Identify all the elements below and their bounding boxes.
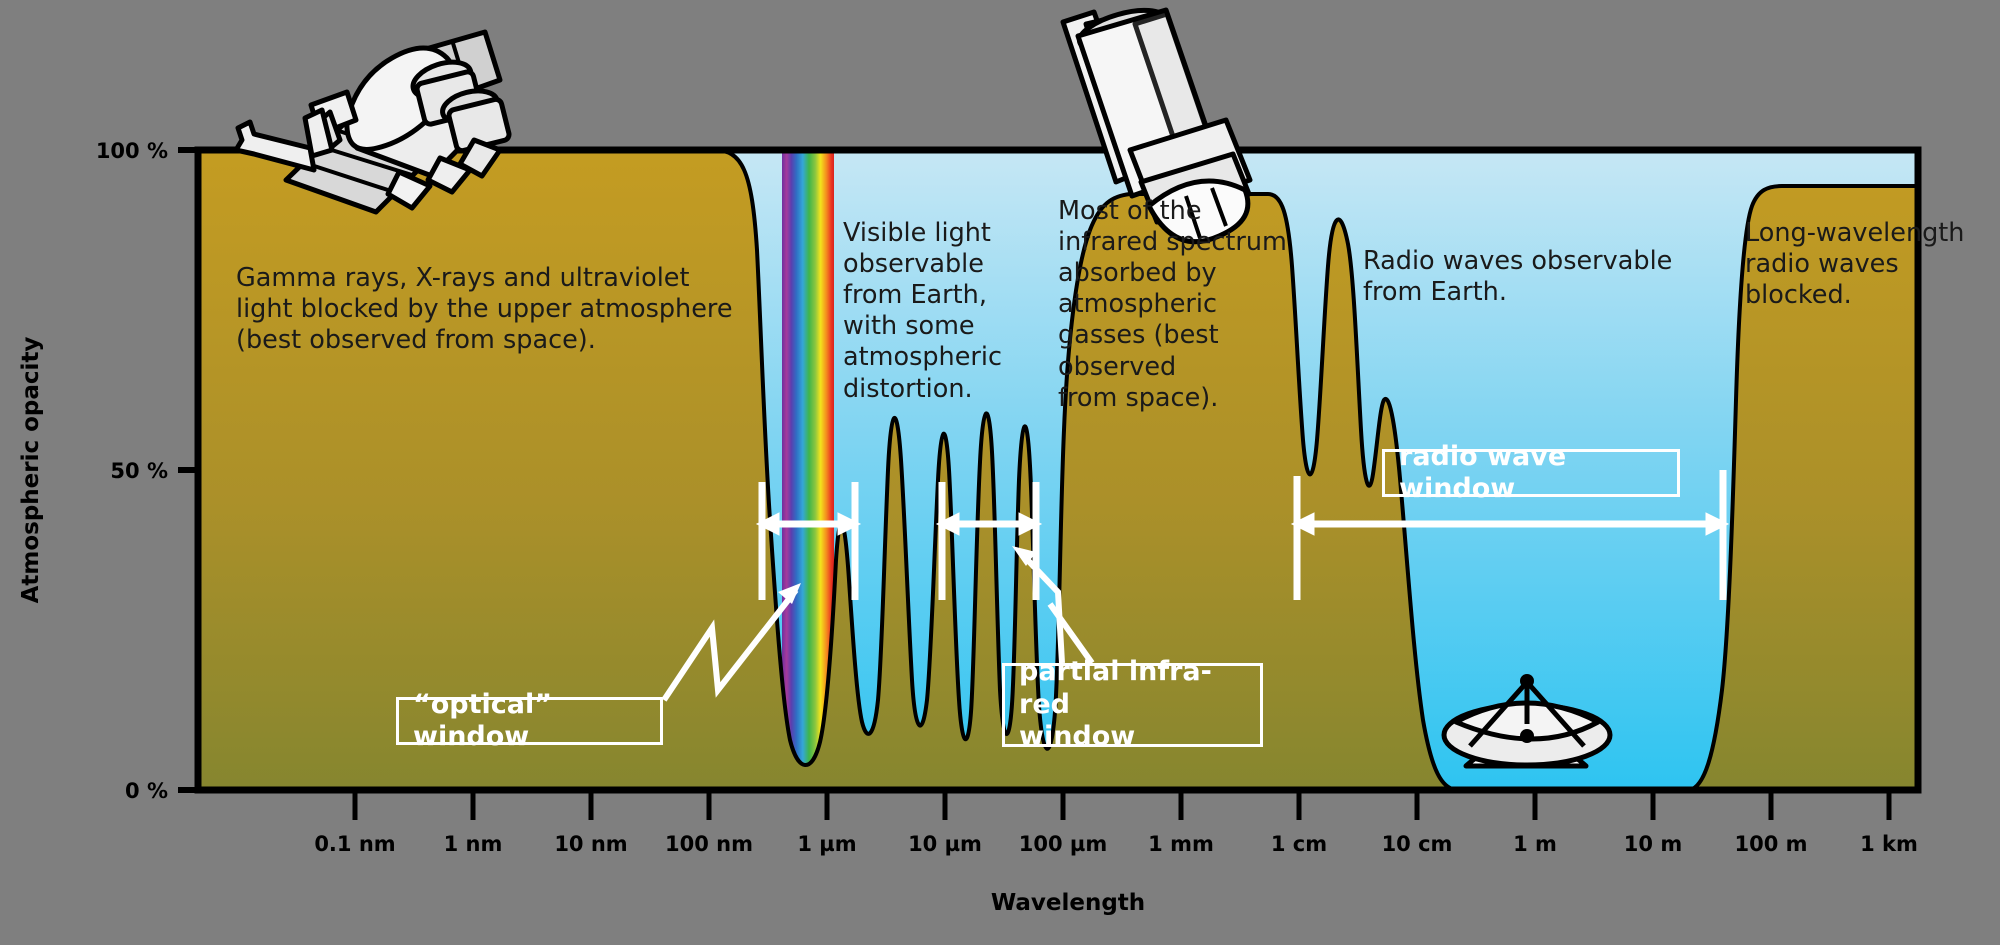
x-tick-label-7: 1 mm — [1148, 832, 1214, 856]
figure-canvas: 100 % 50 % 0 % Atmospheric opacity 0.1 n… — [0, 0, 2000, 945]
y-tick-label-0: 0 % — [125, 779, 168, 803]
y-tick-label-100: 100 % — [96, 139, 168, 163]
x-tick-label-9: 10 cm — [1382, 832, 1453, 856]
x-tick-label-6: 100 µm — [1019, 832, 1107, 856]
x-axis-title: Wavelength — [991, 890, 1145, 916]
y-axis-title: Atmospheric opacity — [18, 337, 44, 604]
partial-infrared-window-callout: partial infra-red window — [1002, 663, 1263, 747]
visible-light-note: Visible light observable from Earth, wit… — [843, 218, 1027, 405]
x-tick-label-11: 10 m — [1624, 832, 1682, 856]
x-tick-label-13: 1 km — [1860, 832, 1918, 856]
gamma-xray-uv-note: Gamma rays, X-rays and ultraviolet light… — [236, 263, 802, 356]
diagram-svg: 100 % 50 % 0 % Atmospheric opacity 0.1 n… — [0, 0, 2000, 945]
optical-window-callout: “optical” window — [396, 697, 663, 745]
y-tick-label-50: 50 % — [110, 459, 168, 483]
radio-observable-note: Radio waves observable from Earth. — [1363, 246, 1703, 308]
x-tick-label-2: 10 nm — [554, 832, 627, 856]
x-tick-label-3: 100 nm — [665, 832, 753, 856]
x-tick-label-1: 1 nm — [444, 832, 503, 856]
x-tick-label-5: 10 µm — [908, 832, 982, 856]
long-wavelength-blocked-note: Long-wavelength radio waves blocked. — [1745, 218, 1981, 311]
x-axis-ticks — [355, 793, 1889, 820]
x-tick-label-4: 1 µm — [797, 832, 856, 856]
infrared-note: Most of the infrared spectrum absorbed b… — [1058, 196, 1314, 414]
x-tick-labels: 0.1 nm 1 nm 10 nm 100 nm 1 µm 10 µm 100 … — [314, 832, 1918, 856]
radio-wave-window-callout: radio wave window — [1382, 449, 1680, 497]
x-tick-label-10: 1 m — [1513, 832, 1557, 856]
x-tick-label-8: 1 cm — [1271, 832, 1327, 856]
x-tick-label-12: 100 m — [1734, 832, 1807, 856]
x-tick-label-0: 0.1 nm — [314, 832, 395, 856]
